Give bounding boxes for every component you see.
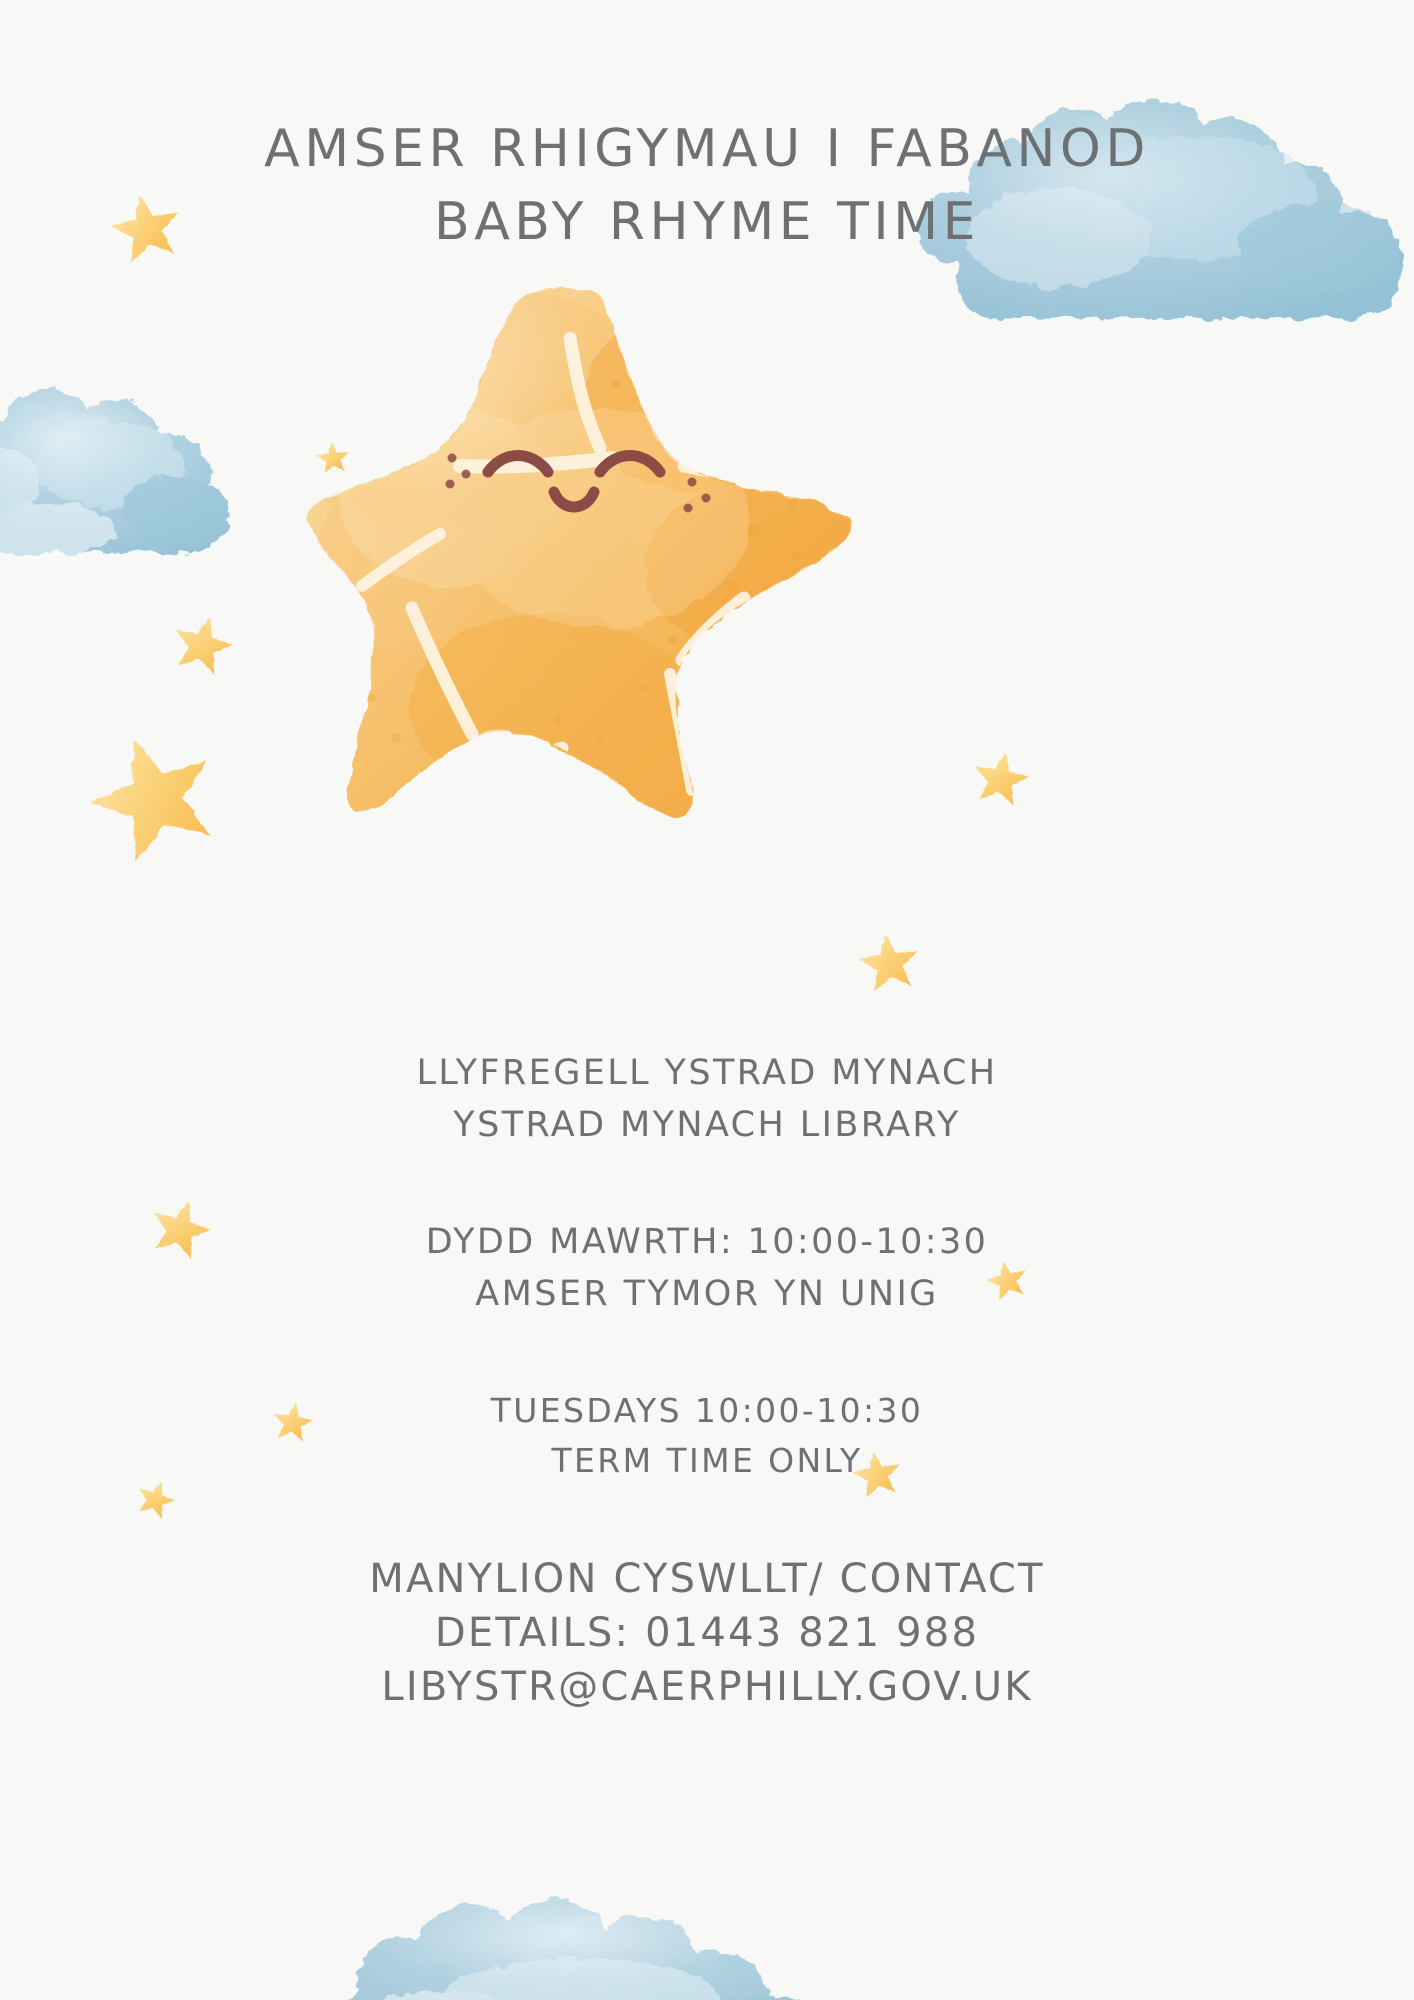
small-star-icon bbox=[165, 605, 240, 680]
contact-phone: DETAILS: 01443 821 988 bbox=[0, 1610, 1414, 1656]
contact-line-1: MANYLION CYSWLLT/ CONTACT bbox=[0, 1556, 1414, 1602]
page-title-english: BABY RHYME TIME bbox=[0, 192, 1414, 252]
star-mouth bbox=[554, 492, 594, 507]
schedule-english-term: TERM TIME ONLY bbox=[0, 1441, 1414, 1480]
smiling-star-illustration bbox=[300, 268, 870, 828]
venue-name-english: YSTRAD MYNACH LIBRARY bbox=[0, 1105, 1414, 1145]
small-star-icon bbox=[131, 1473, 181, 1523]
venue-name-welsh: LLYFREGELL YSTRAD MYNACH bbox=[0, 1053, 1414, 1093]
small-star-icon bbox=[854, 926, 924, 996]
schedule-welsh-term: AMSER TYMOR YN UNIG bbox=[0, 1274, 1414, 1314]
small-star-icon bbox=[967, 743, 1034, 810]
small-star-icon bbox=[70, 710, 237, 877]
page-title-welsh: AMSER RHIGYMAU I FABANOD bbox=[0, 119, 1414, 179]
star-freckles bbox=[446, 454, 711, 513]
small-star-icon bbox=[314, 438, 351, 475]
cloud-bottom-center-icon bbox=[330, 1850, 890, 2000]
cloud-left-icon bbox=[0, 360, 250, 610]
poster-canvas: AMSER RHIGYMAU I FABANOD BABY RHYME TIME… bbox=[0, 0, 1414, 2000]
contact-email[interactable]: LIBYSTR@CAERPHILLY.GOV.UK bbox=[0, 1664, 1414, 1710]
star-eyes bbox=[488, 456, 660, 473]
schedule-english-day-time: TUESDAYS 10:00-10:30 bbox=[0, 1391, 1414, 1430]
schedule-welsh-day-time: DYDD MAWRTH: 10:00-10:30 bbox=[0, 1222, 1414, 1262]
